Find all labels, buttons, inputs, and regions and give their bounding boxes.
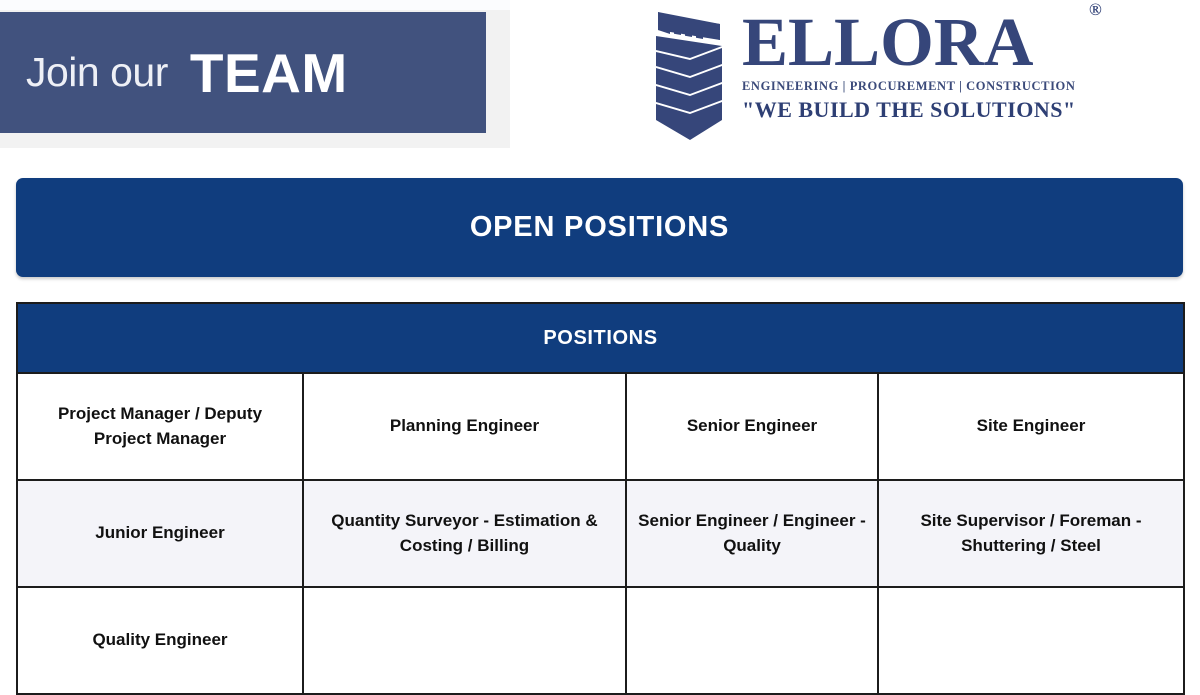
position-cell[interactable]: Senior Engineer <box>626 373 878 480</box>
position-cell-empty <box>878 587 1184 694</box>
position-cell[interactable]: Planning Engineer <box>303 373 626 480</box>
logo-wordmark: ELLORA ® ENGINEERING | PROCUREMENT | CON… <box>742 6 1076 123</box>
table-row: Project Manager / Deputy Project Manager… <box>17 373 1184 480</box>
join-our-label: Join our <box>26 49 168 96</box>
table-row: Junior Engineer Quantity Surveyor - Esti… <box>17 480 1184 587</box>
position-cell[interactable]: Junior Engineer <box>17 480 303 587</box>
logo-disciplines: ENGINEERING | PROCUREMENT | CONSTRUCTION <box>742 79 1076 94</box>
positions-table-body: Project Manager / Deputy Project Manager… <box>17 373 1184 694</box>
stacked-beam-logo-icon <box>650 8 728 144</box>
position-cell[interactable]: Site Supervisor / Foreman - Shuttering /… <box>878 480 1184 587</box>
position-cell[interactable]: Site Engineer <box>878 373 1184 480</box>
company-logo: ELLORA ® ENGINEERING | PROCUREMENT | CON… <box>650 6 1070 146</box>
position-cell-empty <box>626 587 878 694</box>
open-positions-title: OPEN POSITIONS <box>470 211 729 244</box>
position-cell[interactable]: Quality Engineer <box>17 587 303 694</box>
table-header-row: POSITIONS <box>17 303 1184 373</box>
open-positions-banner: OPEN POSITIONS <box>16 178 1183 277</box>
position-cell[interactable]: Quantity Surveyor - Estimation & Costing… <box>303 480 626 587</box>
logo-slogan: "WE BUILD THE SOLUTIONS" <box>742 97 1076 123</box>
positions-column-header: POSITIONS <box>17 303 1184 373</box>
registered-trademark-icon: ® <box>1089 2 1102 18</box>
positions-table-head: POSITIONS <box>17 303 1184 373</box>
table-row: Quality Engineer <box>17 587 1184 694</box>
join-our-team-banner-image: Join our TEAM <box>0 0 510 148</box>
page-header: Join our TEAM ELLORA ® <box>0 0 1200 155</box>
position-cell[interactable]: Senior Engineer / Engineer - Quality <box>626 480 878 587</box>
team-label: TEAM <box>190 41 348 105</box>
position-cell[interactable]: Project Manager / Deputy Project Manager <box>17 373 303 480</box>
logo-company-name-text: ELLORA <box>742 4 1033 80</box>
join-our-team-banner: Join our TEAM <box>0 12 486 133</box>
logo-company-name: ELLORA ® <box>742 10 1076 76</box>
positions-table-container: POSITIONS Project Manager / Deputy Proje… <box>16 302 1183 695</box>
position-cell-empty <box>303 587 626 694</box>
positions-table: POSITIONS Project Manager / Deputy Proje… <box>16 302 1185 695</box>
